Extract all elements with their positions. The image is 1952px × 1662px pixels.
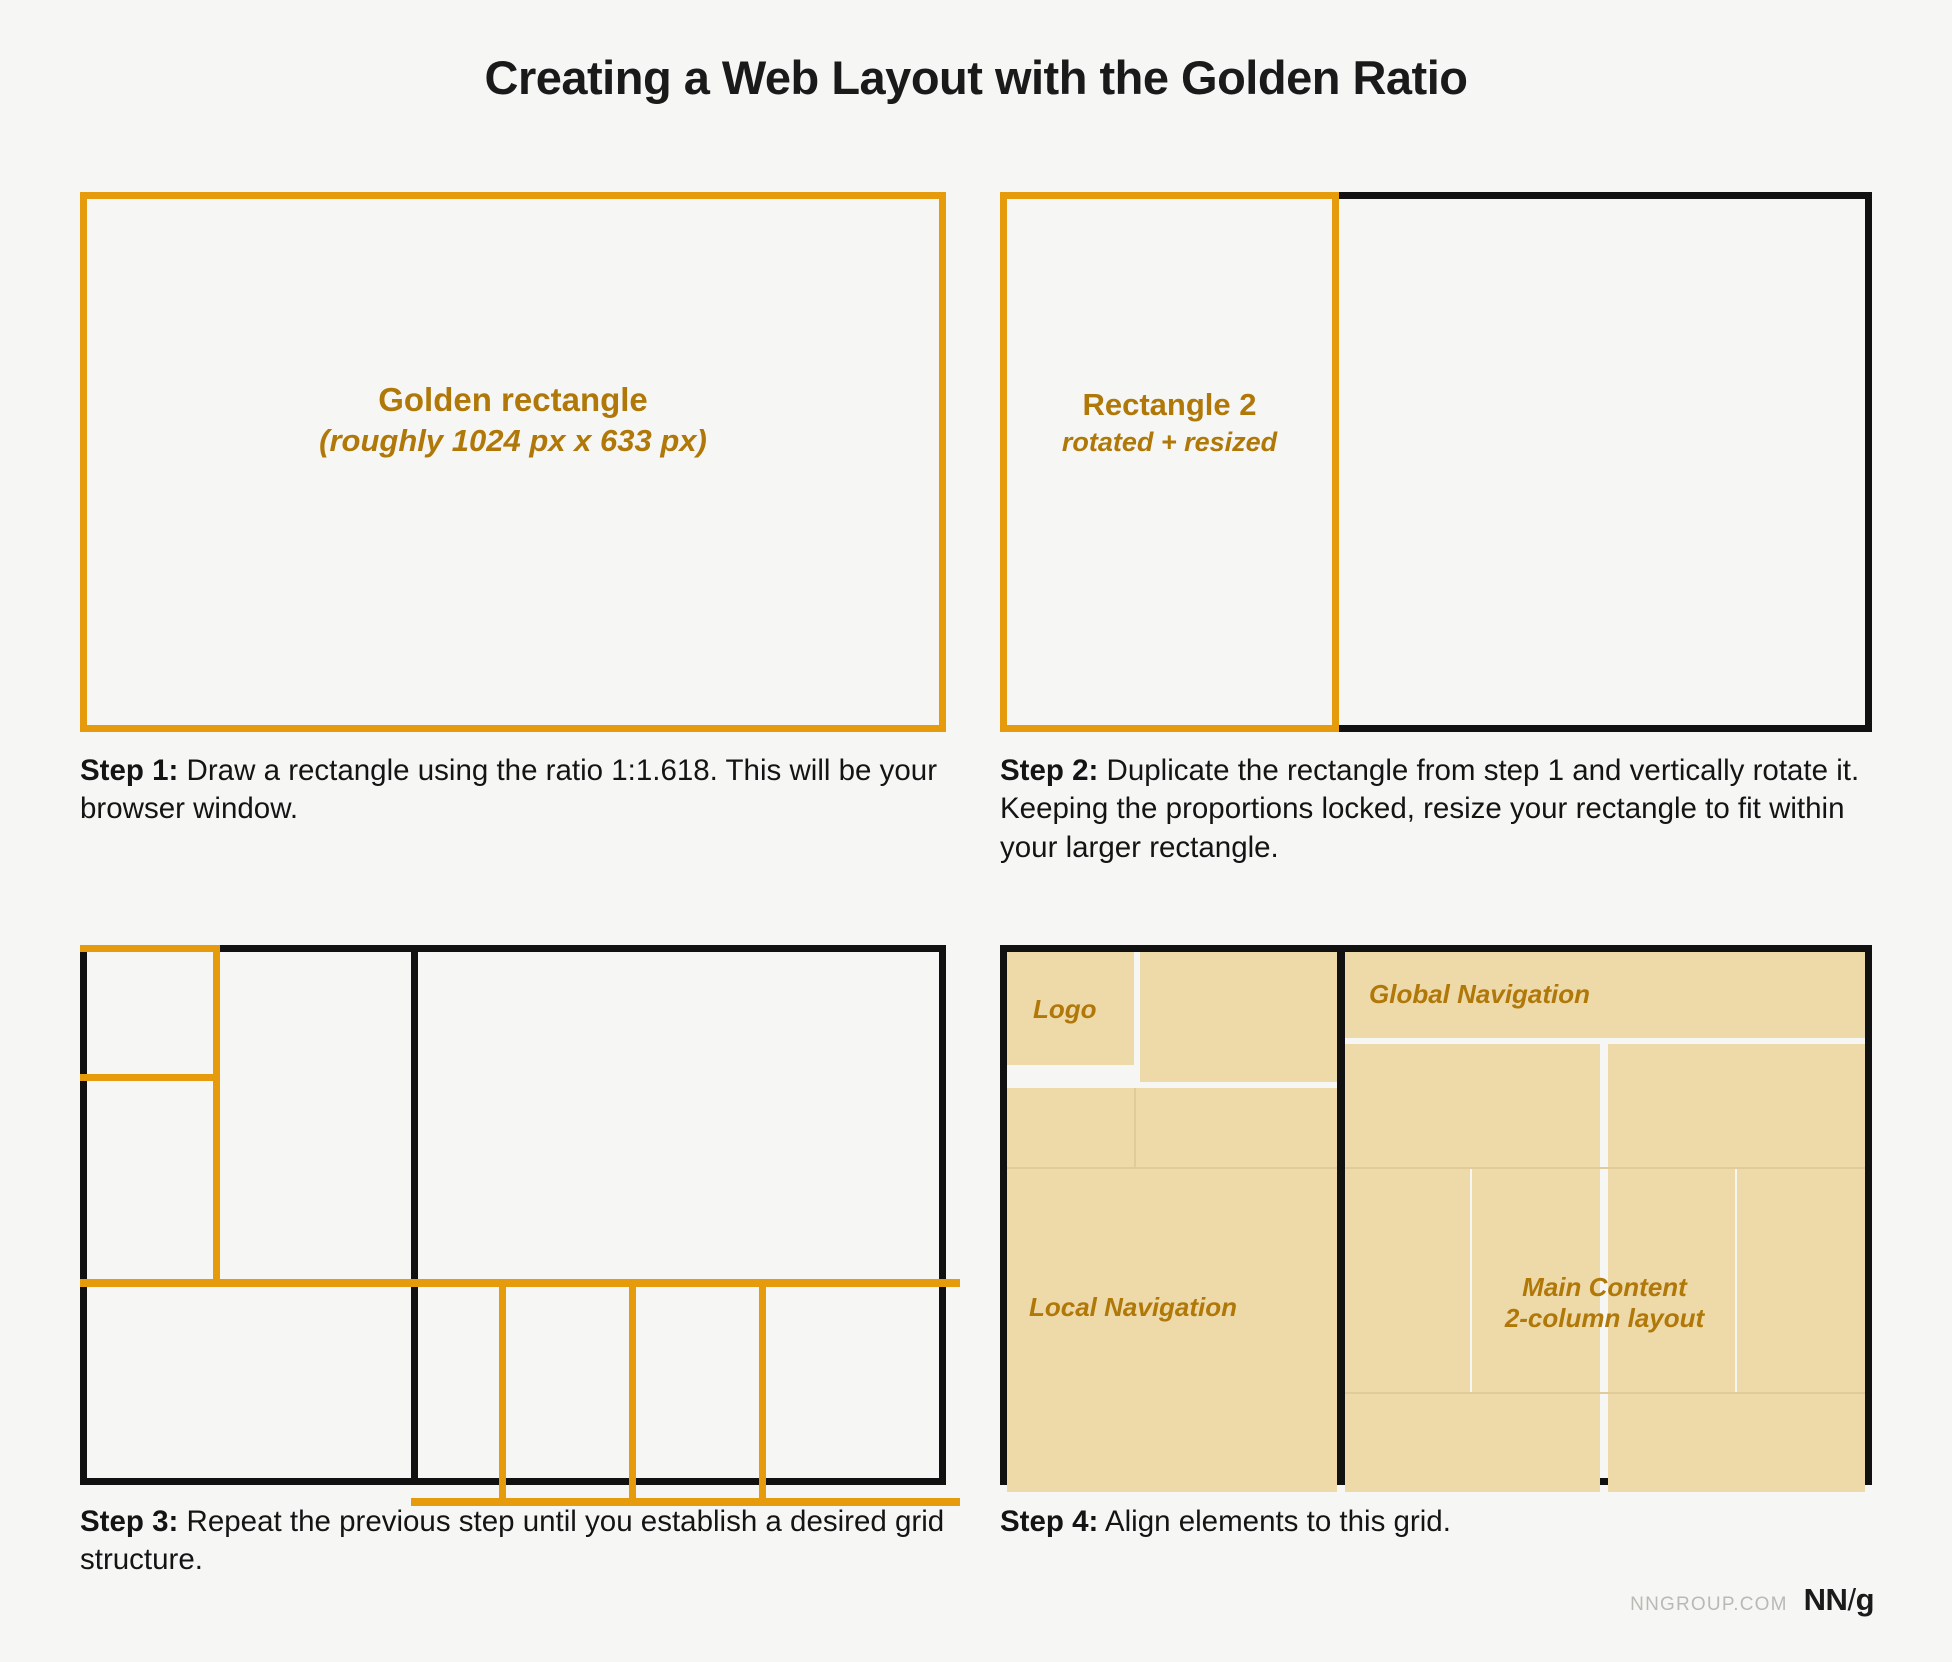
step-2-caption-text: Duplicate the rectangle from step 1 and … <box>1000 754 1859 864</box>
global-navigation-label: Global Navigation <box>1369 979 1590 1010</box>
step-1-caption: Step 1: Draw a rectangle using the ratio… <box>80 752 960 829</box>
step-2-caption: Step 2: Duplicate the rectangle from ste… <box>1000 752 1905 867</box>
step-3-figure <box>80 945 946 1485</box>
rectangle-2-label-group: Rectangle 2 rotated + resized <box>1007 385 1332 459</box>
local-navigation-block <box>1007 1167 1337 1492</box>
nng-logo-nn: NN <box>1804 1582 1848 1617</box>
content-lower-right-block <box>1608 1394 1865 1492</box>
step-2-figure: Rectangle 2 rotated + resized <box>1000 192 1872 732</box>
step-3-caption-label: Step 3: <box>80 1505 178 1538</box>
grid-square-right-edge <box>213 945 220 1081</box>
grid-divider-vertical-main <box>411 945 418 1485</box>
grid-square-top-edge <box>80 945 220 952</box>
logo-label: Logo <box>1033 994 1097 1025</box>
golden-rectangle-label-group: Golden rectangle (roughly 1024 px x 633 … <box>87 379 939 461</box>
step-4-figure: Logo Local Navigation Global Navigation … <box>1000 945 1872 1485</box>
left-upper-block <box>1007 1088 1337 1167</box>
grid-horizontal-divider-main <box>80 1279 960 1287</box>
main-inner-horizontal-line-upper <box>1345 1167 1865 1169</box>
main-content-label: Main Content 2-column layout <box>1472 1272 1737 1333</box>
rectangle-2-title: Rectangle 2 <box>1007 385 1332 425</box>
step-2-caption-label: Step 2: <box>1000 754 1098 787</box>
rotated-rectangle-outline: Rectangle 2 rotated + resized <box>1000 192 1339 732</box>
content-upper-left-block <box>1345 1044 1600 1167</box>
step-3-caption-text: Repeat the previous step until you estab… <box>80 1505 944 1576</box>
main-content-label-line2: 2-column layout <box>1472 1303 1737 1334</box>
main-content-col-d <box>1737 1167 1865 1392</box>
layout-divider-vertical-main <box>1337 945 1345 1485</box>
footer-url: NNGROUP.COM <box>1630 1594 1787 1616</box>
footer: NNGROUP.COM NN/g <box>1630 1582 1874 1618</box>
main-content-col-a <box>1345 1167 1470 1392</box>
content-lower-left-block <box>1345 1394 1600 1492</box>
step-1-caption-text: Draw a rectangle using the ratio 1:1.618… <box>80 754 937 825</box>
rectangle-2-subtitle: rotated + resized <box>1007 425 1332 460</box>
grid-column-divider-3 <box>759 1286 766 1505</box>
grid-column-divider-1 <box>499 1286 506 1505</box>
local-navigation-label: Local Navigation <box>1029 1292 1237 1323</box>
golden-rectangle-title: Golden rectangle <box>87 379 939 421</box>
step-4-caption-text: Align elements to this grid. <box>1098 1505 1451 1538</box>
page-title: Creating a Web Layout with the Golden Ra… <box>0 50 1952 105</box>
step-4-caption-label: Step 4: <box>1000 1505 1098 1538</box>
golden-rectangle-dimensions: (roughly 1024 px x 633 px) <box>87 421 939 461</box>
grid-left-vertical-divider <box>213 1074 220 1286</box>
header-strip-left <box>1140 952 1337 1082</box>
left-inner-vertical-line <box>1134 1088 1136 1167</box>
step-3-caption: Step 3: Repeat the previous step until y… <box>80 1503 960 1580</box>
grid-square-bottom-edge <box>80 1074 220 1081</box>
step-1-caption-label: Step 1: <box>80 754 178 787</box>
nng-logo: NN/g <box>1804 1582 1874 1618</box>
main-content-label-line1: Main Content <box>1472 1272 1737 1303</box>
grid-column-divider-2 <box>629 1286 636 1505</box>
nng-logo-g: g <box>1856 1582 1874 1617</box>
content-upper-right-block <box>1608 1044 1865 1167</box>
left-inner-horizontal-line <box>1007 1167 1337 1169</box>
main-inner-horizontal-line-lower <box>1345 1392 1865 1394</box>
step-1-figure: Golden rectangle (roughly 1024 px x 633 … <box>80 192 946 732</box>
nng-logo-slash: / <box>1847 1582 1855 1617</box>
step-4-caption: Step 4: Align elements to this grid. <box>1000 1503 1905 1541</box>
